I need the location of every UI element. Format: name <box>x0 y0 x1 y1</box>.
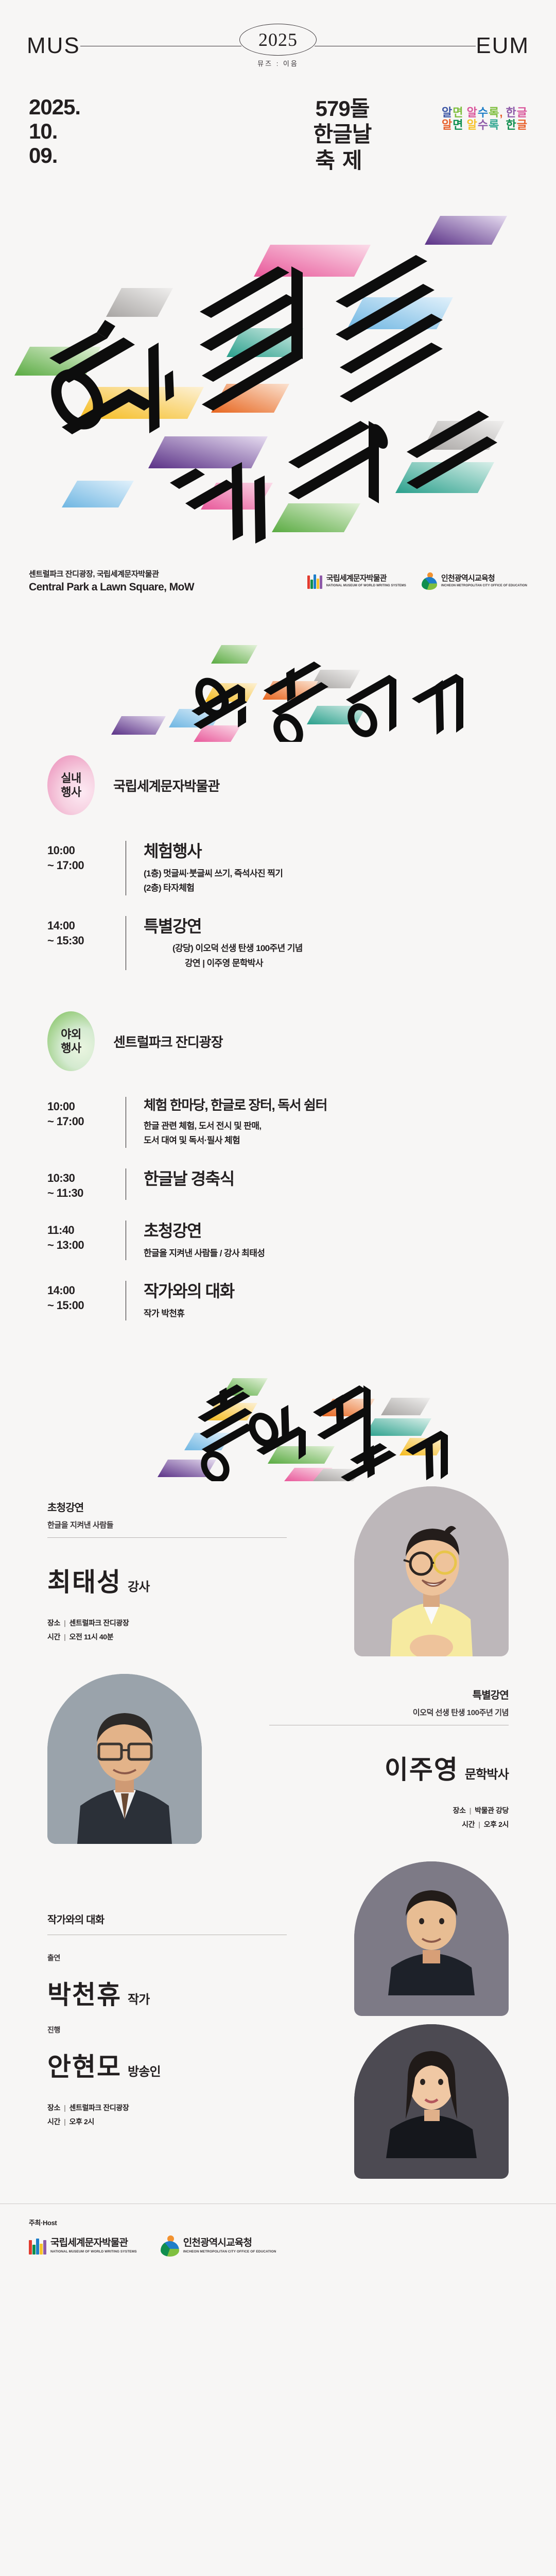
speaker-title: 문학박사 <box>465 1764 509 1782</box>
schedule-divider <box>126 1281 126 1320</box>
talk-entry-title: 작가 <box>128 1989 150 2007</box>
incheon-edu-mark-icon <box>161 2235 179 2256</box>
footer: 주최·Host 국립세계문자박물관 NATIONAL MUSEUM OF WOR… <box>0 2204 556 2280</box>
schedule-time: 10:00 ~ 17:00 <box>47 841 126 895</box>
speaker-place-label: 장소 <box>47 1619 60 1627</box>
footer-mow-logo: 국립세계문자박물관 NATIONAL MUSEUM OF WORLD WRITI… <box>29 2237 137 2255</box>
edu-logo-korean: 인천광역시교육청 <box>441 574 527 583</box>
schedule-detail: (2층) 타자체험 <box>144 882 509 895</box>
badge-indoor-line2: 행사 <box>61 785 81 800</box>
schedule-divider <box>126 916 126 970</box>
schedule-title: 한글날 경축식 <box>144 1170 509 1189</box>
talk-entry: 출연 박천휴 작가 <box>47 1953 354 2011</box>
time-start: 10:00 <box>47 844 126 857</box>
talk-entry-name: 박천휴 <box>47 1974 121 2011</box>
schedule-divider <box>126 841 126 895</box>
time-start: 14:00 <box>47 919 126 933</box>
date-year: 2025. <box>29 95 158 119</box>
speaker-photo-frame <box>354 1486 509 1656</box>
schedule-detail: (강당) 이오덕 선생 탄생 100주년 기념 <box>144 942 509 955</box>
poster-page: MUS 2025 뮤즈 : 이음 EUM 2025. 10. 09. 579돌 … <box>0 0 556 2576</box>
talk-photo-frame-top <box>354 1861 509 2016</box>
talk-time-value: 오후 2시 <box>69 2117 94 2126</box>
speaker-meta: 장소|박물관 강당 시간|오후 2시 <box>202 1804 509 1831</box>
time-end: ~ 11:30 <box>47 1187 126 1200</box>
schedule-body: 초청강연 한글을 지켜낸 사람들 / 강사 최태성 <box>144 1221 509 1260</box>
masthead-subtitle: 뮤즈 : 이음 <box>257 58 299 68</box>
meta-sep: | <box>64 1619 66 1627</box>
time-end: ~ 15:30 <box>47 934 126 947</box>
speaker-time-row: 시간|오후 2시 <box>202 1818 509 1832</box>
footer-mow-korean: 국립세계문자박물관 <box>50 2238 137 2249</box>
speaker-title: 강사 <box>128 1577 150 1595</box>
schedule-detail: 작가 박천휴 <box>144 1307 509 1320</box>
talk-entry-name-row: 안현모 방송인 <box>47 2046 354 2083</box>
masthead-year-badge: 2025 뮤즈 : 이음 <box>239 24 317 68</box>
schedule-title: 체험 한마당, 한글로 장터, 독서 쉼터 <box>144 1098 509 1113</box>
schedule-detail: 한글을 지켜낸 사람들 / 강사 최태성 <box>144 1247 509 1260</box>
hangul-badge-line1: 알면 알수록, <box>442 107 502 118</box>
masthead-left-word: MUS <box>27 33 80 59</box>
schedule-row: 14:00 ~ 15:30 특별강연 (강당) 이오덕 선생 탄생 100주년 … <box>47 908 509 982</box>
speaker-place-value: 박물관 강당 <box>475 1806 509 1815</box>
meta-sep: | <box>64 2104 66 2112</box>
schedule-time: 10:30 ~ 11:30 <box>47 1168 126 1200</box>
group-venue-indoor: 국립세계문자박물관 <box>113 776 219 795</box>
talk-divider <box>47 1935 287 1935</box>
schedule-body: 작가와의 대화 작가 박천휴 <box>144 1281 509 1320</box>
schedule-body: 한글날 경축식 <box>144 1168 509 1200</box>
badge-indoor: 실내 행사 <box>47 755 95 815</box>
speaker-divider <box>269 1725 509 1725</box>
meta-sep: | <box>470 1806 472 1815</box>
talk-role: 작가와의 대화 <box>47 1911 354 1926</box>
schedule-row: 10:00 ~ 17:00 체험행사 (1층) 멋글씨·붓글씨 쓰기, 즉석사진… <box>47 833 509 907</box>
talk-photos <box>354 1861 509 2179</box>
badge-indoor-line1: 실내 <box>61 771 81 786</box>
portrait-illustration-park <box>354 1861 509 1995</box>
schedule-row: 14:00 ~ 15:00 작가와의 대화 작가 박천휴 <box>47 1273 509 1333</box>
schedule-rows-indoor: 10:00 ~ 17:00 체험행사 (1층) 멋글씨·붓글씨 쓰기, 즉석사진… <box>47 833 509 982</box>
speaker-info: 초청강연 한글을 지켜낸 사람들 최태성 강사 장소|센트럴파크 잔디광장 시간… <box>47 1499 354 1643</box>
badge-outdoor-line2: 행사 <box>61 1041 81 1056</box>
mow-logo-english: NATIONAL MUSEUM OF WORLD WRITING SYSTEMS <box>326 584 406 587</box>
schedule-divider <box>126 1221 126 1260</box>
talk-time-label: 시간 <box>47 2117 60 2126</box>
speaker-meta: 장소|센트럴파크 잔디광장 시간|오전 11시 40분 <box>47 1616 354 1643</box>
talk-time-row: 시간|오후 2시 <box>47 2115 354 2129</box>
hero-artwork <box>0 194 556 550</box>
time-start: 10:30 <box>47 1172 126 1185</box>
talk-entry-name: 안현모 <box>47 2046 121 2083</box>
time-end: ~ 13:00 <box>47 1239 126 1252</box>
portrait-illustration-choi <box>354 1486 509 1656</box>
masthead-rule-right <box>315 46 476 46</box>
speaker-card-lee: 특별강연 이오덕 선생 탄생 100주년 기념 이주영 문학박사 장소|박물관 … <box>47 1674 509 1844</box>
speaker-time-label: 시간 <box>462 1820 475 1828</box>
schedule-title: 초청강연 <box>144 1222 509 1241</box>
hangul-badge-line1b: 알면 알수록 <box>442 120 502 131</box>
time-end: ~ 15:00 <box>47 1299 126 1312</box>
speaker-name: 최태성 <box>47 1562 121 1599</box>
time-start: 14:00 <box>47 1284 126 1297</box>
schedule-title: 작가와의 대화 <box>144 1282 509 1301</box>
speaker-photo-frame <box>47 1674 202 1844</box>
mow-logo: 국립세계문자박물관 NATIONAL MUSEUM OF WORLD WRITI… <box>307 573 406 589</box>
speaker-photo <box>354 1486 509 1656</box>
schedule-body: 체험 한마당, 한글로 장터, 독서 쉼터 한글 관련 체험, 도서 전시 및 … <box>144 1097 509 1148</box>
date-day: 09. <box>29 143 158 167</box>
schedule-group-outdoor: 야외 행사 센트럴파크 잔디광장 10:00 ~ 17:00 체험 한마당, 한… <box>47 1011 509 1333</box>
speaker-name: 이주영 <box>385 1749 459 1786</box>
time-start: 10:00 <box>47 1100 126 1113</box>
speaker-divider <box>47 1537 287 1538</box>
speaker-role: 초청강연 <box>47 1499 354 1514</box>
edu-mark-swoosh <box>422 577 437 590</box>
speaker-role: 특별강연 <box>202 1687 509 1702</box>
time-end: ~ 17:00 <box>47 859 126 872</box>
cast-heading-artwork <box>0 1373 556 1481</box>
venue-korean: 센트럴파크 잔디광장, 국립세계문자박물관 <box>29 568 307 579</box>
masthead-right-word: EUM <box>476 33 529 59</box>
meta-sep: | <box>64 2117 66 2126</box>
schedule-row: 11:40 ~ 13:00 초청강연 한글을 지켜낸 사람들 / 강사 최태성 <box>47 1212 509 1273</box>
venue-english: Central Park a Lawn Square, MoW <box>29 581 307 594</box>
speaker-time-row: 시간|오전 11시 40분 <box>47 1630 354 1644</box>
schedule-body: 특별강연 (강당) 이오덕 선생 탄생 100주년 기념 강연 | 이주영 문학… <box>144 916 509 970</box>
talk-entry: 진행 안현모 방송인 <box>47 2025 354 2083</box>
footer-edu-logo: 인천광역시교육청 INCHEON METROPOLITAN CITY OFFIC… <box>161 2235 276 2256</box>
footer-host-label: 주최·Host <box>29 2217 527 2227</box>
year-label: 2025 <box>258 29 298 50</box>
speaker-time-value: 오전 11시 40분 <box>69 1633 114 1641</box>
talk-place-value: 센트럴파크 잔디광장 <box>69 2104 129 2112</box>
speaker-place-row: 장소|박물관 강당 <box>202 1804 509 1818</box>
speaker-time-value: 오후 2시 <box>484 1820 509 1828</box>
group-header-indoor: 실내 행사 국립세계문자박물관 <box>47 755 509 815</box>
date-festival-row: 2025. 10. 09. 579돌 한글날 축제 알면 알수록, 알면 알수록… <box>0 68 556 174</box>
mow-logo-korean: 국립세계문자박물관 <box>326 574 406 583</box>
group-header-outdoor: 야외 행사 센트럴파크 잔디광장 <box>47 1011 509 1071</box>
education-office-logo: 인천광역시교육청 INCHEON METROPOLITAN CITY OFFIC… <box>422 572 527 590</box>
incheon-edu-mark-icon <box>422 572 437 590</box>
speaker-place-label: 장소 <box>453 1806 466 1815</box>
schedule-time: 10:00 ~ 17:00 <box>47 1097 126 1148</box>
speaker-time-label: 시간 <box>47 1633 60 1641</box>
speaker-topic: 한글을 지켜낸 사람들 <box>47 1519 354 1530</box>
schedule-detail: 강연 | 이주영 문학박사 <box>144 957 509 970</box>
talk-entry-tag: 출연 <box>47 1953 354 1963</box>
mow-mark-icon <box>307 573 322 589</box>
speaker-place-value: 센트럴파크 잔디광장 <box>69 1619 129 1627</box>
schedule-title: 체험행사 <box>144 842 509 861</box>
schedule-time: 14:00 ~ 15:00 <box>47 1281 126 1320</box>
speaker-photo <box>47 1674 202 1844</box>
schedule-group-indoor: 실내 행사 국립세계문자박물관 10:00 ~ 17:00 체험행사 (1층) … <box>47 755 509 982</box>
talk-card: 작가와의 대화 출연 박천휴 작가 진행 안현모 방송인 <box>47 1861 509 2179</box>
schedule-row: 10:00 ~ 17:00 체험 한마당, 한글로 장터, 독서 쉼터 한글 관… <box>47 1089 509 1160</box>
venue-text: 센트럴파크 잔디광장, 국립세계문자박물관 Central Park a Law… <box>29 568 307 594</box>
mow-mark-icon <box>29 2237 46 2255</box>
year-oval: 2025 <box>239 24 317 56</box>
speaker-name-row: 이주영 문학박사 <box>202 1749 509 1786</box>
time-start: 11:40 <box>47 1224 126 1237</box>
schedule-time: 11:40 ~ 13:00 <box>47 1221 126 1260</box>
hangul-badge-line2b: 한글 <box>506 120 528 131</box>
footer-mow-english: NATIONAL MUSEUM OF WORLD WRITING SYSTEMS <box>50 2250 137 2253</box>
schedule-divider <box>126 1168 126 1200</box>
meta-sep: | <box>478 1820 480 1828</box>
time-end: ~ 17:00 <box>47 1115 126 1128</box>
edu-mark-swoosh <box>161 2241 179 2257</box>
speaker-name-row: 최태성 강사 <box>47 1562 354 1599</box>
footer-logos: 국립세계문자박물관 NATIONAL MUSEUM OF WORLD WRITI… <box>29 2235 527 2256</box>
schedule-rows-outdoor: 10:00 ~ 17:00 체험 한마당, 한글로 장터, 독서 쉼터 한글 관… <box>47 1089 509 1333</box>
schedule-body: 체험행사 (1층) 멋글씨·붓글씨 쓰기, 즉석사진 찍기 (2층) 타자체험 <box>144 841 509 895</box>
masthead: MUS 2025 뮤즈 : 이음 EUM <box>0 0 556 68</box>
talk-info: 작가와의 대화 출연 박천휴 작가 진행 안현모 방송인 <box>47 1911 354 2128</box>
footer-edu-korean: 인천광역시교육청 <box>183 2238 276 2249</box>
schedule-heading-artwork <box>0 634 556 742</box>
hangul-campaign-badge: 알면 알수록, 알면 알수록 한글 한글 <box>442 107 527 131</box>
meta-sep: | <box>64 1633 66 1641</box>
schedule-title: 특별강연 <box>144 917 509 936</box>
talk-photo-bottom <box>354 2024 509 2179</box>
schedule-detail: 한글 관련 체험, 도서 전시 및 판매, <box>144 1120 509 1133</box>
speaker-topic: 이오덕 선생 탄생 100주년 기념 <box>202 1707 509 1718</box>
portrait-illustration-lee <box>47 1674 202 1844</box>
schedule-time: 14:00 ~ 15:30 <box>47 916 126 970</box>
badge-outdoor: 야외 행사 <box>47 1011 95 1071</box>
schedule-divider <box>126 1097 126 1148</box>
footer-edu-english: INCHEON METROPOLITAN CITY OFFICE OF EDUC… <box>183 2250 276 2253</box>
venue-strip: 센트럴파크 잔디광장, 국립세계문자박물관 Central Park a Law… <box>0 550 556 594</box>
group-venue-outdoor: 센트럴파크 잔디광장 <box>113 1032 223 1051</box>
talk-place-label: 장소 <box>47 2104 60 2112</box>
talk-meta: 장소|센트럴파크 잔디광장 시간|오후 2시 <box>47 2101 354 2128</box>
edu-logo-english: INCHEON METROPOLITAN CITY OFFICE OF EDUC… <box>441 584 527 587</box>
speakers-section: 초청강연 한글을 지켜낸 사람들 최태성 강사 장소|센트럴파크 잔디광장 시간… <box>0 1481 556 2179</box>
talk-entry-tag: 진행 <box>47 2025 354 2035</box>
talk-entry-name-row: 박천휴 작가 <box>47 1974 354 2011</box>
partner-logos: 국립세계문자박물관 NATIONAL MUSEUM OF WORLD WRITI… <box>307 572 527 590</box>
talk-place-row: 장소|센트럴파크 잔디광장 <box>47 2101 354 2115</box>
masthead-rule-left <box>80 46 241 46</box>
badge-outdoor-line1: 야외 <box>61 1027 81 1042</box>
speaker-info: 특별강연 이오덕 선생 탄생 100주년 기념 이주영 문학박사 장소|박물관 … <box>202 1687 509 1831</box>
schedule-detail: (1층) 멋글씨·붓글씨 쓰기, 즉석사진 찍기 <box>144 867 509 880</box>
schedule-section: 실내 행사 국립세계문자박물관 10:00 ~ 17:00 체험행사 (1층) … <box>0 755 556 1333</box>
festival-type: 축제 <box>158 148 527 174</box>
schedule-detail: 도서 대여 및 독서·필사 체험 <box>144 1134 509 1147</box>
hangul-badge-line2: 한글 <box>506 107 528 118</box>
talk-entry-title: 방송인 <box>128 2061 161 2079</box>
date-block: 2025. 10. 09. <box>29 95 158 174</box>
schedule-row: 10:30 ~ 11:30 한글날 경축식 <box>47 1160 509 1212</box>
talk-photo-frame-bottom <box>354 2024 509 2179</box>
date-month: 10. <box>29 119 158 143</box>
portrait-illustration-ahn <box>354 2024 509 2158</box>
speaker-place-row: 장소|센트럴파크 잔디광장 <box>47 1616 354 1630</box>
talk-photo-top <box>354 1861 509 2016</box>
speaker-card-choi: 초청강연 한글을 지켜낸 사람들 최태성 강사 장소|센트럴파크 잔디광장 시간… <box>47 1486 509 1656</box>
